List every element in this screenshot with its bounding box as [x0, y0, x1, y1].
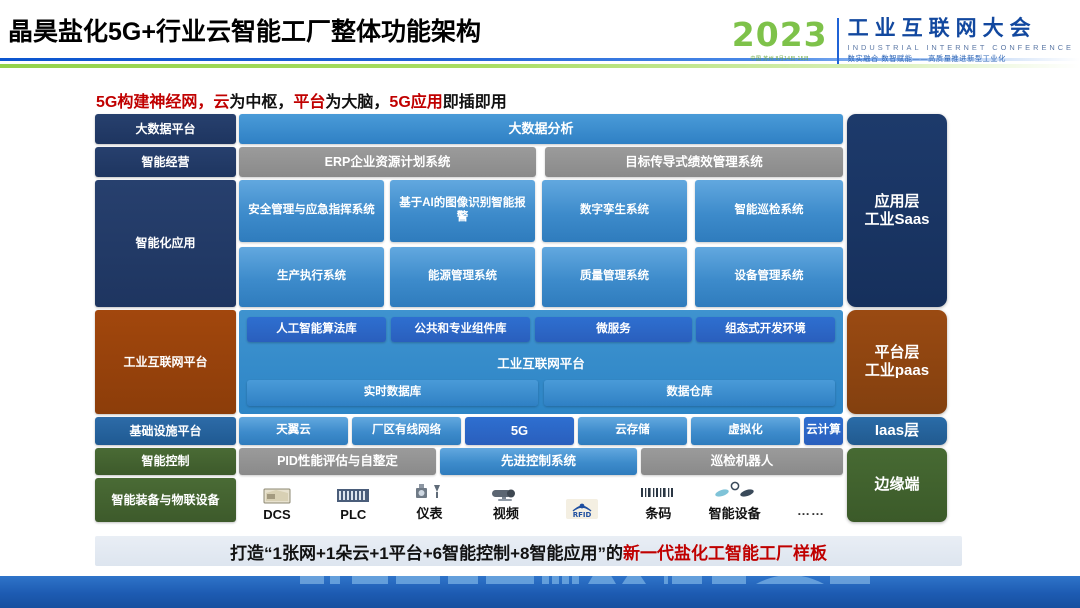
left-label-control: 智能控制: [95, 448, 236, 475]
card-energy-management[interactable]: 能源管理系统: [390, 247, 535, 307]
left-label-devices: 智能装备与物联设备: [95, 478, 236, 522]
right-label-iaas-layer: Iaas层: [847, 417, 947, 445]
device-item-dcs-label: DCS: [263, 507, 290, 522]
device-item-instrument[interactable]: 仪表: [398, 479, 462, 522]
subtitle-part-4: 平台: [293, 94, 325, 111]
left-label-smart-apps: 智能化应用: [95, 180, 236, 307]
slide-canvas: 晶昊盐化5G+行业云智能工厂整体功能架构 2023 中国·苏州 8月14日-15…: [0, 0, 1080, 608]
left-label-devices-text: 智能装备与物联设备: [111, 493, 219, 507]
card-inspection-robot-label: 巡检机器人: [711, 454, 774, 469]
device-strip: DCS PLC: [245, 480, 843, 522]
left-label-iip-text: 工业互联网平台: [123, 355, 207, 369]
device-item-smart-device[interactable]: 智能设备: [703, 479, 767, 522]
device-item-more: ……: [779, 498, 843, 522]
card-equipment-management-label: 设备管理系统: [735, 270, 804, 284]
card-plant-wired-network-label: 厂区有线网络: [372, 424, 441, 438]
plc-icon: [336, 483, 370, 505]
card-equipment-management[interactable]: 设备管理系统: [695, 247, 843, 307]
device-item-barcode[interactable]: 条码: [626, 479, 690, 522]
card-microservices-label: 微服务: [596, 323, 631, 337]
card-5g-label: 5G: [511, 423, 528, 439]
device-item-rfid[interactable]: RFID: [550, 498, 614, 522]
right-label-edge-layer: 边缘端: [847, 448, 947, 522]
camera-icon: [488, 479, 524, 501]
card-ai-image-alarm[interactable]: 基于AI的图像识别智能报警: [390, 180, 535, 242]
right-label-iaas-layer-text: Iaas层: [875, 422, 919, 440]
card-bigdata-analysis-label: 大数据分析: [508, 121, 573, 137]
card-cloud-storage[interactable]: 云存储: [578, 417, 687, 445]
card-plant-wired-network[interactable]: 厂区有线网络: [352, 417, 461, 445]
card-data-warehouse[interactable]: 数据仓库: [544, 380, 835, 406]
page-title: 晶昊盐化5G+行业云智能工厂整体功能架构: [8, 12, 481, 48]
logo-conference-en: INDUSTRIAL INTERNET CONFERENCE: [848, 43, 1074, 52]
card-bigdata-analysis[interactable]: 大数据分析: [239, 114, 843, 144]
card-advanced-control[interactable]: 先进控制系统: [440, 448, 637, 475]
logo-conference-tagline: 数实融合 数智赋能——高质量推进新型工业化: [848, 54, 1074, 64]
card-configuration-dev-env[interactable]: 组态式开发环境: [696, 317, 835, 342]
summary-banner-black-text: 打造“1张网+1朵云+1平台+6智能控制+8智能应用”的: [230, 544, 623, 563]
right-label-edge-layer-text: 边缘端: [874, 476, 919, 494]
card-advanced-control-label: 先进控制系统: [501, 454, 576, 469]
device-item-barcode-label: 条码: [645, 503, 671, 522]
card-inspection-robot[interactable]: 巡检机器人: [641, 448, 843, 475]
device-item-smart-device-label: 智能设备: [709, 503, 761, 522]
card-5g[interactable]: 5G: [465, 417, 574, 445]
subtitle-part-5: 为大脑，: [325, 94, 389, 111]
device-item-plc[interactable]: PLC: [321, 483, 385, 522]
left-label-control-text: 智能控制: [141, 454, 189, 468]
logo-year-subtext: 中国·苏州 8月14日-15日: [750, 55, 809, 62]
card-energy-management-label: 能源管理系统: [428, 270, 497, 284]
right-label-application-layer-line1: 应用层: [874, 193, 919, 211]
conference-logo: 2023 中国·苏州 8月14日-15日 工业互联网大会 INDUSTRIAL …: [732, 18, 1074, 64]
left-label-bigdata-text: 大数据平台: [135, 122, 195, 136]
left-label-bigdata: 大数据平台: [95, 114, 236, 144]
card-safety-emergency-label: 安全管理与应急指挥系统: [248, 204, 375, 218]
subtitle-part-2: 云: [213, 94, 229, 111]
card-cloud-computing-label: 云计算: [806, 424, 841, 438]
card-ai-algorithm-library[interactable]: 人工智能算法库: [247, 317, 386, 342]
card-ai-algorithm-library-label: 人工智能算法库: [276, 323, 357, 337]
device-item-video[interactable]: 视频: [474, 479, 538, 522]
card-smart-inspection[interactable]: 智能巡检系统: [695, 180, 843, 242]
right-label-application-layer-line2: 工业Saas: [864, 211, 929, 229]
card-tianyi-cloud[interactable]: 天翼云: [239, 417, 348, 445]
logo-year: 2023: [732, 18, 828, 51]
card-cloud-computing[interactable]: 云计算: [804, 417, 843, 445]
card-erp-system[interactable]: ERP企业资源计划系统: [239, 147, 536, 177]
card-realtime-database-label: 实时数据库: [364, 386, 422, 400]
architecture-diagram: 2023工业互联网大会 大数据平台 智能经营 智能化应用 工业互联网平台 基础设…: [95, 114, 962, 534]
card-digital-twin-label: 数字孪生系统: [580, 204, 649, 218]
card-component-library[interactable]: 公共和专业组件库: [391, 317, 530, 342]
card-pid-tuning[interactable]: PID性能评估与自整定: [239, 448, 436, 475]
left-label-infra-text: 基础设施平台: [129, 424, 201, 438]
svg-text:RFID: RFID: [573, 511, 592, 519]
card-data-warehouse-label: 数据仓库: [667, 386, 713, 400]
card-safety-emergency[interactable]: 安全管理与应急指挥系统: [239, 180, 384, 242]
subtitle-part-1: 5G构建神经网，: [96, 94, 213, 111]
card-smart-inspection-label: 智能巡检系统: [735, 204, 804, 218]
logo-text-group: 工业互联网大会 INDUSTRIAL INTERNET CONFERENCE 数…: [848, 18, 1074, 64]
platform-panel: 人工智能算法库 公共和专业组件库 微服务 组态式开发环境 工业互联网平台 实时数…: [239, 310, 843, 414]
summary-banner: 打造“1张网+1朵云+1平台+6智能控制+8智能应用”的新一代盐化工智能工厂样板: [95, 536, 962, 566]
dcs-icon: [262, 483, 292, 505]
card-mes[interactable]: 生产执行系统: [239, 247, 384, 307]
instrument-icon: [413, 479, 447, 501]
card-ai-image-alarm-label: 基于AI的图像识别智能报警: [396, 197, 529, 225]
card-performance-system-label: 目标传导式绩效管理系统: [625, 155, 763, 170]
card-digital-twin[interactable]: 数字孪生系统: [542, 180, 687, 242]
logo-divider: [837, 18, 839, 64]
logo-year-group: 2023 中国·苏州 8月14日-15日: [732, 18, 837, 62]
card-quality-management-label: 质量管理系统: [580, 270, 649, 284]
header-green-rule: [0, 64, 1080, 68]
card-erp-system-label: ERP企业资源计划系统: [325, 155, 451, 170]
card-performance-system[interactable]: 目标传导式绩效管理系统: [545, 147, 843, 177]
diagram-subtitle: 5G构建神经网，云为中枢，平台为大脑，5G应用即插即用: [96, 88, 507, 112]
card-component-library-label: 公共和专业组件库: [415, 323, 507, 337]
card-microservices[interactable]: 微服务: [535, 317, 692, 342]
summary-banner-red-text: 新一代盐化工智能工厂样板: [623, 544, 827, 563]
right-label-application-layer: 应用层 工业Saas: [847, 114, 947, 307]
subtitle-part-3: 为中枢，: [229, 94, 293, 111]
left-label-iip: 工业互联网平台: [95, 310, 236, 414]
card-virtualization-label: 虚拟化: [728, 424, 763, 438]
subtitle-part-6: 5G应用: [389, 94, 442, 111]
card-configuration-dev-env-label: 组态式开发环境: [725, 323, 806, 337]
footer-band: [0, 576, 1080, 608]
right-label-platform-layer-line1: 平台层: [874, 344, 919, 362]
rfid-icon: RFID: [565, 498, 599, 520]
smart-device-icon: [713, 479, 757, 501]
card-pid-tuning-label: PID性能评估与自整定: [277, 454, 398, 469]
right-label-platform-layer: 平台层 工业paas: [847, 310, 947, 414]
device-item-plc-label: PLC: [340, 507, 366, 522]
ellipsis-icon-text: ……: [797, 503, 825, 520]
left-label-smart-ops-text: 智能经营: [141, 155, 189, 169]
left-label-smart-apps-text: 智能化应用: [135, 236, 195, 250]
device-item-video-label: 视频: [493, 503, 519, 522]
card-quality-management[interactable]: 质量管理系统: [542, 247, 687, 307]
card-virtualization[interactable]: 虚拟化: [691, 417, 800, 445]
right-label-platform-layer-line2: 工业paas: [865, 362, 929, 380]
card-cloud-storage-label: 云存储: [615, 424, 650, 438]
card-mes-label: 生产执行系统: [277, 270, 346, 284]
device-item-instrument-label: 仪表: [417, 503, 443, 522]
card-tianyi-cloud-label: 天翼云: [276, 424, 311, 438]
platform-center-label: 工业互联网平台: [239, 348, 843, 376]
left-label-smart-ops: 智能经营: [95, 147, 236, 177]
summary-banner-text: 打造“1张网+1朵云+1平台+6智能控制+8智能应用”的新一代盐化工智能工厂样板: [230, 539, 827, 564]
logo-conference-cn: 工业互联网大会: [848, 18, 1074, 40]
device-item-dcs[interactable]: DCS: [245, 483, 309, 522]
platform-center-label-text: 工业互联网平台: [497, 353, 585, 372]
ellipsis-icon: ……: [797, 498, 825, 520]
subtitle-part-7: 即插即用: [443, 94, 507, 111]
skyline-graphic: [0, 576, 1080, 584]
card-realtime-database[interactable]: 实时数据库: [247, 380, 538, 406]
left-label-infra: 基础设施平台: [95, 417, 236, 445]
barcode-icon: [640, 479, 676, 501]
